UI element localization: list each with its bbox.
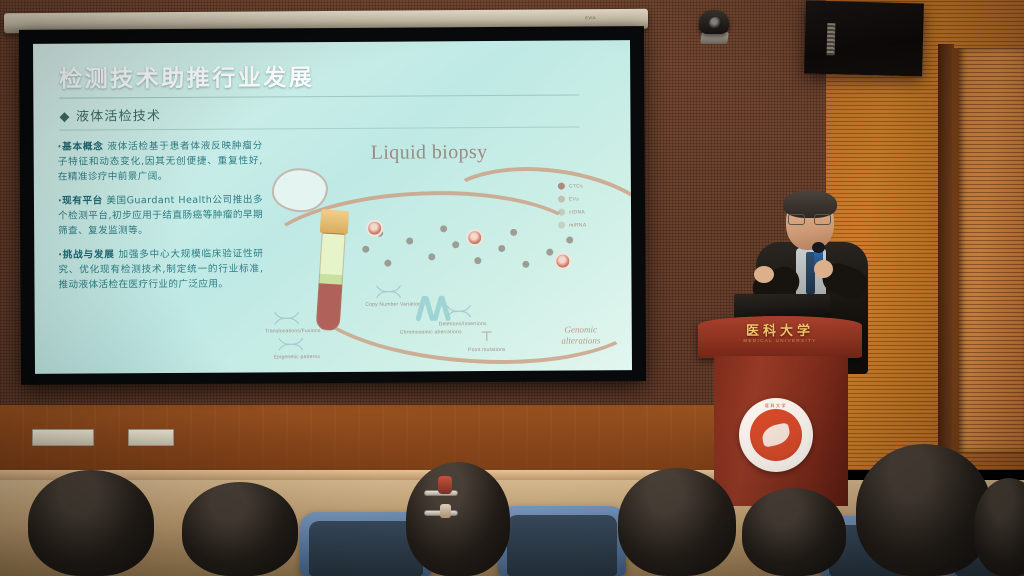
figure-title: Liquid biopsy [371, 141, 488, 165]
presentation-slide: 检测技术助推行业发展 ◆ 液体活检技术 ·基本概念 液体活检基于患者体液反映肿瘤… [33, 40, 632, 374]
lectern-top: 医科大学 MEDICAL UNIVERSITY [698, 316, 862, 358]
legend-item: ctDNA [558, 208, 620, 215]
subtitle-divider [60, 126, 580, 130]
audience-member [856, 444, 992, 576]
blood-cell-dot [498, 245, 505, 252]
auditorium-seat[interactable] [498, 506, 626, 576]
side-door[interactable] [952, 48, 1024, 453]
slide-subtitle: ◆ 液体活检技术 [59, 105, 161, 125]
light-switch-plate-1[interactable] [32, 429, 94, 446]
legend-label: CTCs [569, 183, 583, 189]
dna-helix-icon [273, 310, 313, 326]
camera-lens [709, 17, 722, 30]
legend-item: EVs [558, 195, 620, 202]
tumor-icon [272, 168, 328, 212]
blood-cell-dot [406, 238, 413, 245]
slide-paragraph-1: ·基本概念 液体活检基于患者体液反映肿瘤分子特征和动态变化,因其无创便捷、重复性… [58, 138, 263, 184]
point-mutation-icon [479, 329, 495, 345]
blood-cell-dot [510, 229, 517, 236]
blood-cell-dot [474, 257, 481, 264]
speaker-grille [827, 23, 836, 55]
audience-member [182, 482, 298, 576]
legend-dot-icon [558, 209, 565, 216]
lectern-university-name-en: MEDICAL UNIVERSITY [698, 338, 862, 343]
roller-brand-label: EVIA [585, 15, 596, 20]
figure-label-epigenetic: Epigenetic patterns [261, 354, 333, 361]
microphone-head [812, 242, 825, 253]
genomic-alterations-label: Genomic alterations [545, 324, 617, 346]
tube-cap [320, 209, 349, 235]
legend-label: miRNA [569, 222, 586, 228]
figure-label-translocations: Translocations/Fusions [257, 328, 329, 335]
slide-paragraph-2: ·现有平台 美国Guardant Health公司推出多个检测平台,初步应用于结… [58, 192, 263, 238]
tube-body [316, 232, 346, 331]
emblem-glyph-icon [760, 422, 792, 447]
title-divider [59, 94, 579, 98]
presenter-right-hand [814, 260, 833, 278]
wall-speaker [804, 1, 924, 77]
circulating-tumor-cell-icon [554, 253, 571, 270]
legend-dot-icon [558, 183, 565, 190]
dna-helix-icon [374, 284, 414, 300]
slide-paragraph-3: ·挑战与发展 加强多中心大规模临床验证性研究、优化现有检测技术,制定统一的行业标… [58, 246, 263, 292]
ptz-camera-icon [697, 8, 733, 46]
paragraph-lead-3: ·挑战与发展 [58, 249, 114, 260]
legend-item: miRNA [558, 221, 620, 228]
legend-item: CTCs [558, 182, 620, 189]
chromosome-icon [415, 293, 449, 327]
blood-cell-dot [546, 249, 553, 256]
projection-screen: 检测技术助推行业发展 ◆ 液体活检技术 ·基本概念 液体活检基于患者体液反映肿瘤… [19, 26, 646, 385]
blood-cell-dot [522, 261, 529, 268]
audience-member [742, 488, 846, 576]
legend-dot-icon [558, 222, 565, 229]
blood-cell-dot [440, 225, 447, 232]
paragraph-lead-1: ·基本概念 [58, 141, 104, 152]
circulating-tumor-cell-icon [466, 229, 483, 246]
dna-helix-icon [277, 336, 317, 352]
figure-label-point-mutations: Point mutations [451, 347, 523, 354]
figure-legend: CTCs EVs ctDNA miRNA [558, 182, 620, 234]
camera-body [699, 10, 729, 34]
blood-cell-dot [452, 241, 459, 248]
paragraph-lead-2: ·现有平台 [58, 195, 103, 206]
audience-member [28, 470, 154, 576]
liquid-biopsy-figure: Liquid biopsy [266, 132, 625, 372]
lectern[interactable]: 医科大学 MEDICAL UNIVERSITY 医科大学 [700, 316, 860, 506]
legend-dot-icon [558, 196, 565, 203]
figure-label-chromosomic: Chromosomic aberrations [395, 329, 467, 336]
blood-cell-dot [362, 246, 369, 253]
hair-clip-accessory [424, 480, 464, 514]
blood-cell-dot [566, 237, 573, 244]
lecture-hall-scene: EVIA 检测技术助推行业发展 ◆ 液体活检技术 ·基本概念 液体活检基于患者体… [0, 0, 1024, 576]
audience-member [618, 468, 736, 576]
blood-cell-dot [384, 260, 391, 267]
presenter-left-hand [754, 266, 774, 283]
emblem-inner-disc [750, 409, 802, 461]
legend-label: EVs [569, 196, 579, 202]
circulating-tumor-cell-icon [366, 220, 383, 237]
slide-title: 检测技术助推行业发展 [59, 58, 314, 94]
dna-helix-icon [445, 303, 485, 319]
slide-body-column: ·基本概念 液体活检基于患者体液反映肿瘤分子特征和动态变化,因其无创便捷、重复性… [58, 138, 264, 301]
light-switch-plate-2[interactable] [128, 429, 174, 446]
glasses-icon [788, 214, 832, 225]
lectern-university-name: 医科大学 [698, 320, 862, 339]
university-emblem: 医科大学 [739, 398, 813, 472]
legend-label: ctDNA [569, 209, 585, 215]
blood-cell-dot [428, 253, 435, 260]
